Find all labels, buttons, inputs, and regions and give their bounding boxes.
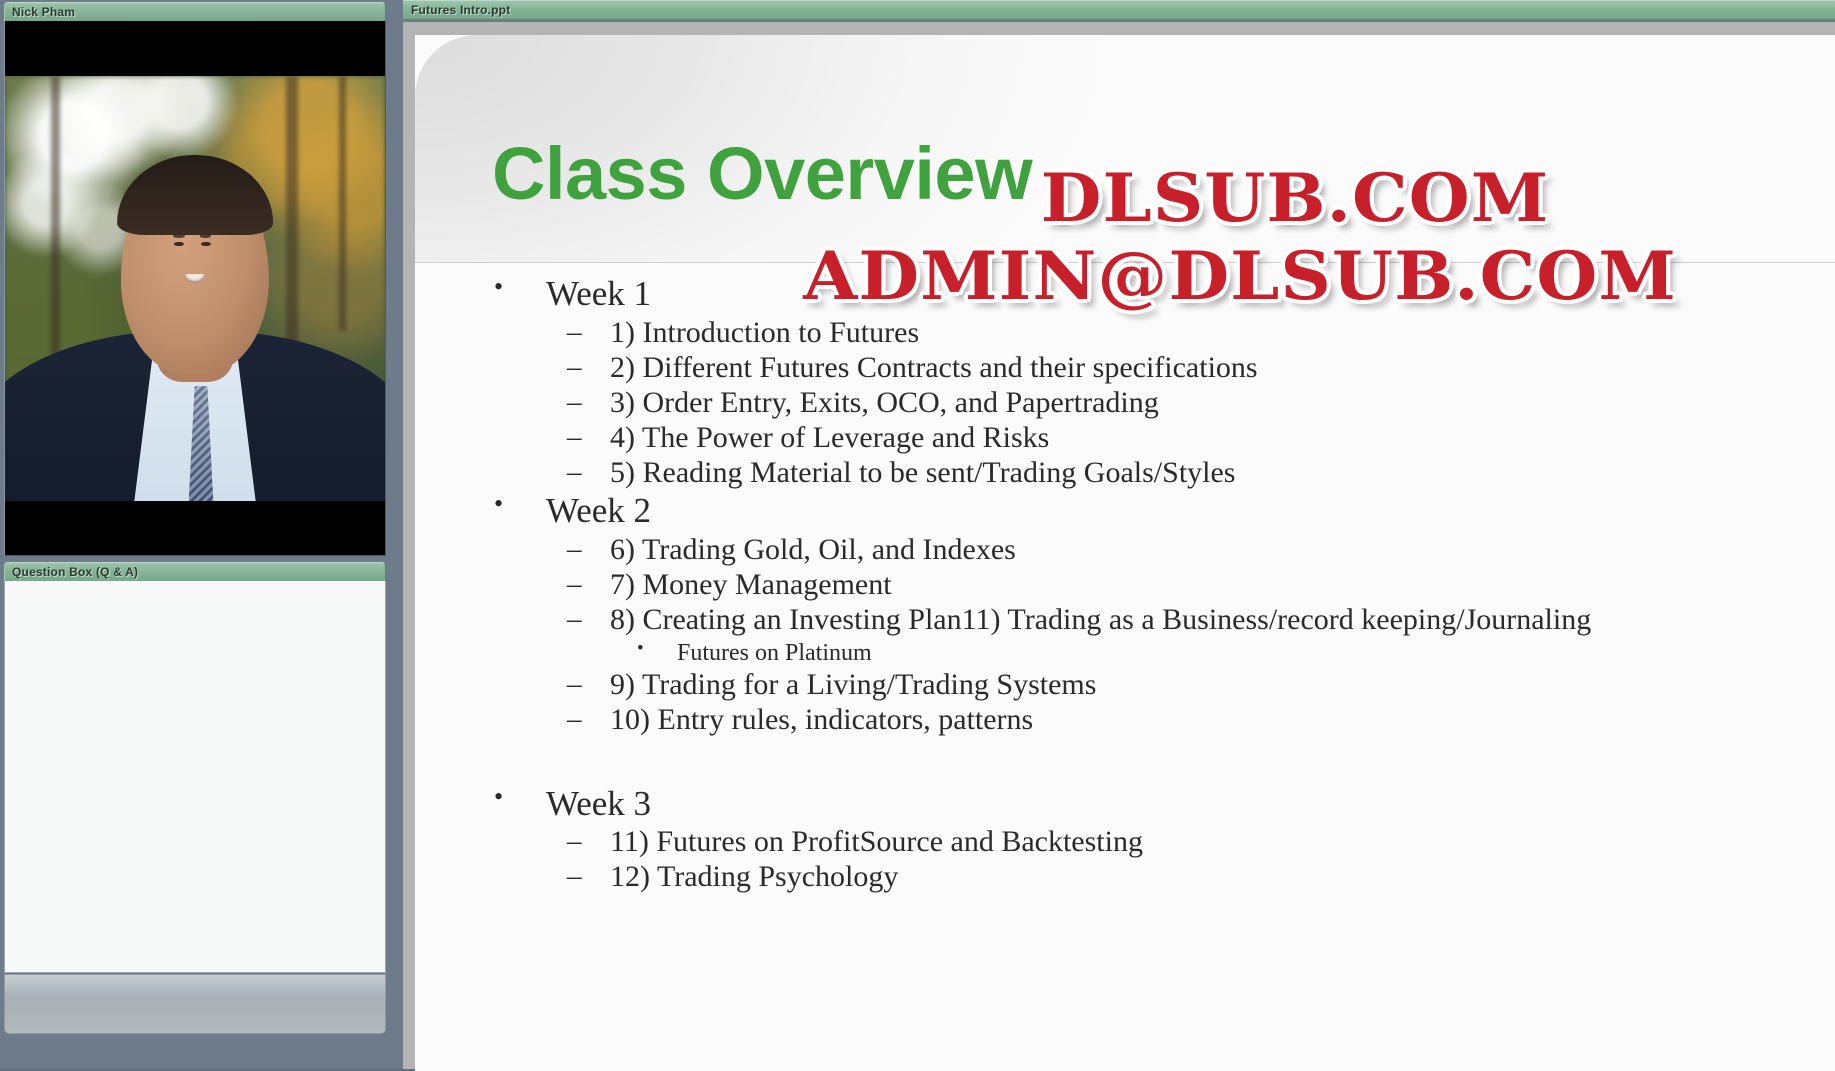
question-box-input-area[interactable] — [4, 974, 386, 1034]
slide-bullet-item: 8) Creating an Investing Plan11) Trading… — [415, 605, 1835, 635]
slide-bullet-item: 10) Entry rules, indicators, patterns — [415, 705, 1835, 735]
slide-bullet-item: 1) Introduction to Futures — [415, 318, 1835, 348]
slide-bullet-item: 4) The Power of Leverage and Risks — [415, 423, 1835, 453]
slide-group-heading: Week 3 — [415, 785, 1835, 823]
webcam-panel: Nick Pham — [0, 0, 390, 560]
slide-bullet-item: 6) Trading Gold, Oil, and Indexes — [415, 535, 1835, 565]
tree-trunk-icon — [286, 76, 298, 357]
slide-bullet-item: 3) Order Entry, Exits, OCO, and Papertra… — [415, 388, 1835, 418]
eye-left — [174, 242, 184, 247]
slide-canvas[interactable]: Class Overview DLSUB.COM ADMIN@DLSUB.COM… — [415, 35, 1835, 1071]
presentation-titlebar[interactable]: Futures Intro.ppt — [403, 0, 1835, 19]
question-box-messages[interactable] — [4, 581, 386, 973]
slide-bullet-item: 12) Trading Psychology — [415, 862, 1835, 892]
webinar-window: Nick Pham — [0, 0, 1835, 1069]
tree-trunk-icon — [51, 76, 60, 382]
smile — [185, 274, 204, 283]
slide-bullet-item: 7) Money Management — [415, 570, 1835, 600]
slide-group-heading: Week 2 — [415, 492, 1835, 530]
tree-trunk-icon — [339, 76, 346, 331]
slide-title: Class Overview — [492, 137, 1032, 211]
question-box-titlebar[interactable]: Question Box (Q & A) — [4, 562, 386, 581]
presenter-video-feed — [5, 76, 385, 501]
question-box-title: Question Box (Q & A) — [12, 565, 138, 579]
left-sidebar: Nick Pham — [0, 0, 390, 1069]
slide-frame: Class Overview DLSUB.COM ADMIN@DLSUB.COM… — [403, 20, 1835, 1069]
presentation-file-name: Futures Intro.ppt — [411, 3, 510, 17]
slide-group: Week 11) Introduction to Futures2) Diffe… — [415, 275, 1835, 488]
slide-group: Week 311) Futures on ProfitSource and Ba… — [415, 785, 1835, 893]
webcam-video-area[interactable] — [4, 21, 386, 556]
slide-bullet-list: Week 11) Introduction to Futures2) Diffe… — [415, 275, 1835, 896]
slide-group: Week 26) Trading Gold, Oil, and Indexes7… — [415, 492, 1835, 735]
eye-right — [201, 242, 211, 247]
webcam-panel-title: Nick Pham — [12, 5, 75, 19]
presentation-panel: Futures Intro.ppt Class Overview DLSUB.C… — [403, 0, 1835, 1069]
slide-sub-bullet-item: Futures on Platinum — [415, 641, 1835, 665]
slide-bullet-item: 11) Futures on ProfitSource and Backtest… — [415, 827, 1835, 857]
webcam-panel-titlebar[interactable]: Nick Pham — [4, 2, 386, 21]
slide-bullet-item: 2) Different Futures Contracts and their… — [415, 353, 1835, 383]
slide-group-heading: Week 1 — [415, 275, 1835, 313]
question-box-panel: Question Box (Q & A) — [0, 560, 390, 1069]
slide-bullet-item: 5) Reading Material to be sent/Trading G… — [415, 458, 1835, 488]
slide-bullet-item: 9) Trading for a Living/Trading Systems — [415, 670, 1835, 700]
